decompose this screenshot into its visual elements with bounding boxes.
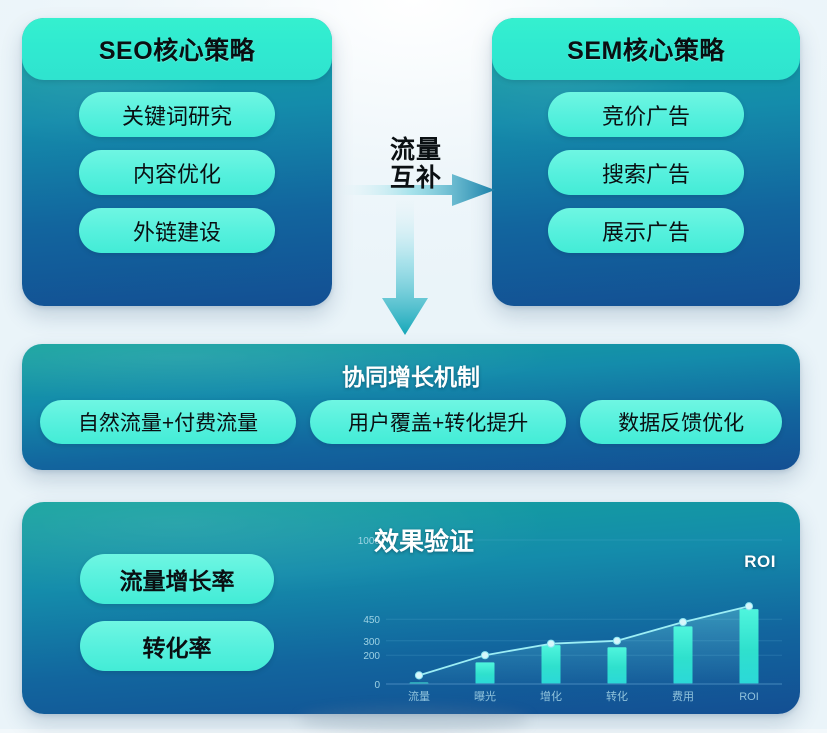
- flow-complement-label: 流量 互补: [372, 136, 460, 192]
- sem-item-display-ads[interactable]: 展示广告: [548, 208, 744, 253]
- synergy-growth-card: 协同增长机制 自然流量+付费流量 用户覆盖+转化提升 数据反馈优化: [22, 344, 800, 470]
- seo-item-label: 外链建设: [133, 215, 221, 247]
- svg-text:流量: 流量: [408, 689, 430, 703]
- result-metric-list: 流量增长率 转化率: [80, 554, 274, 671]
- sem-item-label: 竞价广告: [602, 99, 690, 131]
- svg-text:增化: 增化: [540, 689, 562, 703]
- chart-x-axis-labels: 流量曝光增化转化费用ROI: [408, 689, 759, 703]
- svg-text:200: 200: [363, 651, 380, 662]
- chart-title: 效果验证: [374, 522, 474, 558]
- seo-strategy-card: SEO核心策略 关键词研究 内容优化 外链建设: [22, 18, 332, 306]
- svg-text:转化: 转化: [606, 689, 628, 703]
- svg-text:0: 0: [374, 680, 380, 691]
- sem-strategy-card: SEM核心策略 竞价广告 搜索广告 展示广告: [492, 18, 800, 306]
- sem-card-title: SEM核心策略: [567, 31, 725, 67]
- arrow-down-icon: [378, 200, 432, 335]
- svg-text:300: 300: [363, 637, 380, 648]
- seo-item-label: 内容优化: [133, 157, 221, 189]
- seo-card-title: SEO核心策略: [99, 31, 255, 67]
- svg-text:ROI: ROI: [739, 691, 759, 703]
- svg-text:费用: 费用: [672, 690, 694, 703]
- seo-item-keyword-research[interactable]: 关键词研究: [79, 92, 275, 137]
- synergy-item-list: 自然流量+付费流量 用户覆盖+转化提升 数据反馈优化: [40, 400, 782, 444]
- sem-item-label: 展示广告: [602, 215, 690, 247]
- effect-chart: 效果验证 ROI 10004503002000 流量曝光增化转化费用ROI: [354, 516, 794, 712]
- metric-conversion-rate[interactable]: 转化率: [80, 621, 274, 671]
- metric-label: 转化率: [143, 629, 212, 663]
- sem-item-search-ads[interactable]: 搜索广告: [548, 150, 744, 195]
- seo-item-label: 关键词研究: [122, 99, 232, 131]
- synergy-item-label: 自然流量+付费流量: [78, 407, 258, 437]
- effect-verification-card: 流量增长率 转化率 效果验证 ROI 10004503002000: [22, 502, 800, 714]
- synergy-item-coverage-plus-conversion[interactable]: 用户覆盖+转化提升: [310, 400, 566, 444]
- flow-label-line2: 互补: [372, 164, 460, 192]
- seo-item-backlink-building[interactable]: 外链建设: [79, 208, 275, 253]
- seo-card-header: SEO核心策略: [22, 18, 332, 80]
- seo-item-list: 关键词研究 内容优化 外链建设: [22, 92, 332, 253]
- synergy-item-label: 用户覆盖+转化提升: [348, 407, 528, 437]
- synergy-item-data-feedback[interactable]: 数据反馈优化: [580, 400, 782, 444]
- sem-item-bidding-ads[interactable]: 竞价广告: [548, 92, 744, 137]
- svg-text:450: 450: [363, 615, 380, 626]
- metric-traffic-growth-rate[interactable]: 流量增长率: [80, 554, 274, 604]
- chart-roi-annotation: ROI: [744, 552, 776, 572]
- synergy-item-organic-plus-paid[interactable]: 自然流量+付费流量: [40, 400, 296, 444]
- flow-label-line1: 流量: [372, 136, 460, 164]
- sem-item-list: 竞价广告 搜索广告 展示广告: [492, 92, 800, 253]
- metric-label: 流量增长率: [120, 562, 235, 596]
- seo-item-content-optimization[interactable]: 内容优化: [79, 150, 275, 195]
- chart-y-axis-labels: 10004503002000: [358, 536, 381, 691]
- synergy-item-label: 数据反馈优化: [618, 407, 744, 437]
- svg-text:曝光: 曝光: [474, 689, 496, 703]
- sem-item-label: 搜索广告: [602, 157, 690, 189]
- sem-card-header: SEM核心策略: [492, 18, 800, 80]
- synergy-card-title: 协同增长机制: [22, 358, 800, 392]
